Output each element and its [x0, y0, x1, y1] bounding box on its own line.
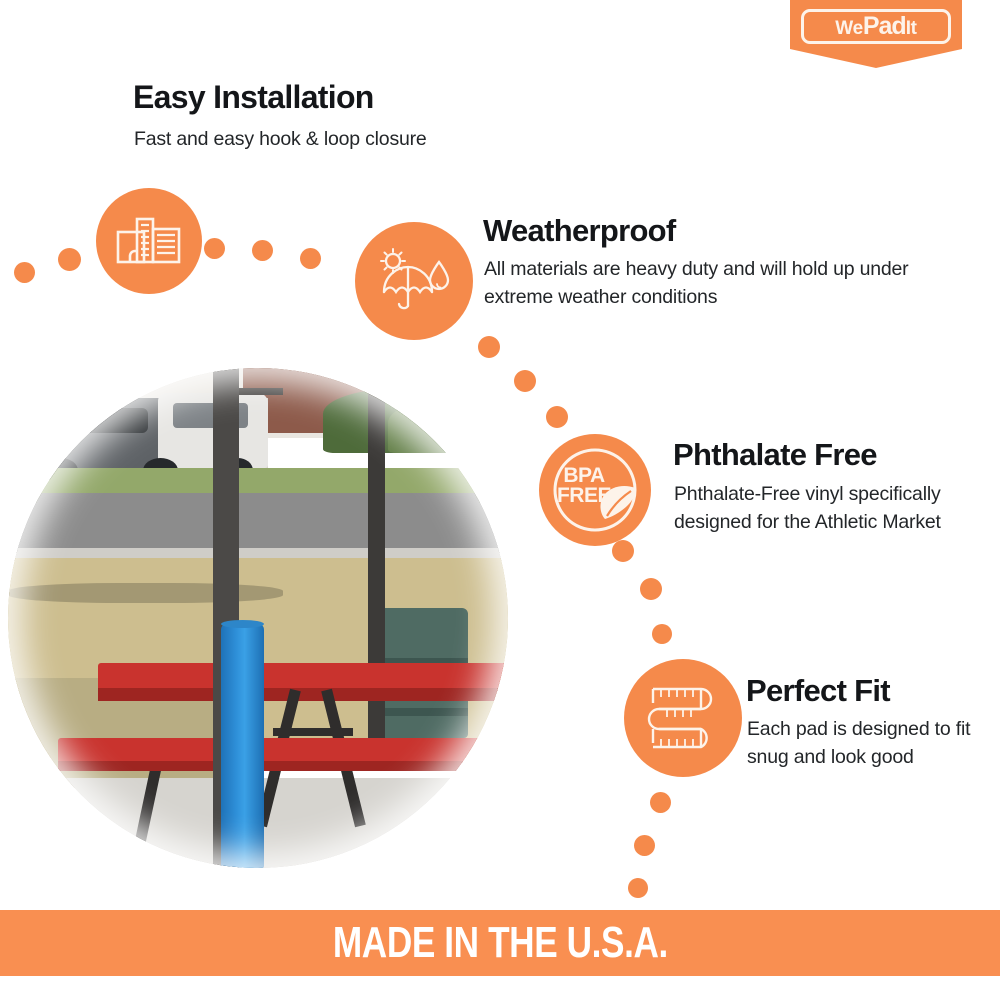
trail-dot — [58, 248, 81, 271]
logo-text: WePadIt — [835, 14, 916, 39]
trail-dot — [640, 578, 662, 600]
measuring-tape-icon — [643, 681, 723, 755]
made-in-usa-banner: MADE IN THE U.S.A. — [0, 910, 1000, 976]
feature-title-weatherproof: Weatherproof — [483, 214, 676, 248]
umbrella-sun-rain-icon — [377, 248, 451, 314]
feature-icon-weatherproof[interactable] — [355, 222, 473, 340]
logo-text-pad: Pad — [863, 12, 906, 40]
feature-icon-perfect-fit[interactable] — [624, 659, 742, 777]
feature-desc-perfect-fit: Each pad is designed to fit snug and loo… — [747, 716, 992, 771]
feature-title-easy-installation: Easy Installation — [133, 80, 374, 115]
feature-icon-phthalate-free[interactable]: BPA FREE — [539, 434, 651, 546]
feature-desc-phthalate-free: Phthalate-Free vinyl specifically design… — [674, 481, 944, 536]
trail-dot — [478, 336, 500, 358]
building-installation-icon — [116, 215, 182, 267]
infographic-page: WePadIt Easy Installation Fast and easy … — [0, 0, 1000, 987]
trail-dot — [628, 878, 648, 898]
feature-title-phthalate-free: Phthalate Free — [673, 438, 877, 472]
feature-desc-weatherproof: All materials are heavy duty and will ho… — [484, 256, 914, 311]
logo-outline-box: WePadIt — [801, 9, 951, 44]
trail-dot — [650, 792, 671, 813]
trail-dot — [652, 624, 672, 644]
brand-logo[interactable]: WePadIt — [790, 0, 962, 68]
trail-dot — [204, 238, 225, 259]
feature-title-perfect-fit: Perfect Fit — [746, 674, 890, 708]
product-photo — [8, 368, 508, 868]
trail-dot — [546, 406, 568, 428]
trail-dot — [514, 370, 536, 392]
bpa-free-leaf-icon — [539, 434, 651, 546]
made-in-usa-text: MADE IN THE U.S.A. — [332, 918, 667, 968]
feature-icon-easy-installation[interactable] — [96, 188, 202, 294]
logo-text-it: It — [906, 18, 917, 39]
trail-dot — [634, 835, 655, 856]
trail-dot — [14, 262, 35, 283]
feature-desc-easy-installation: Fast and easy hook & loop closure — [134, 126, 554, 154]
trail-dot — [300, 248, 321, 269]
logo-text-we: We — [835, 18, 863, 39]
trail-dot — [252, 240, 273, 261]
